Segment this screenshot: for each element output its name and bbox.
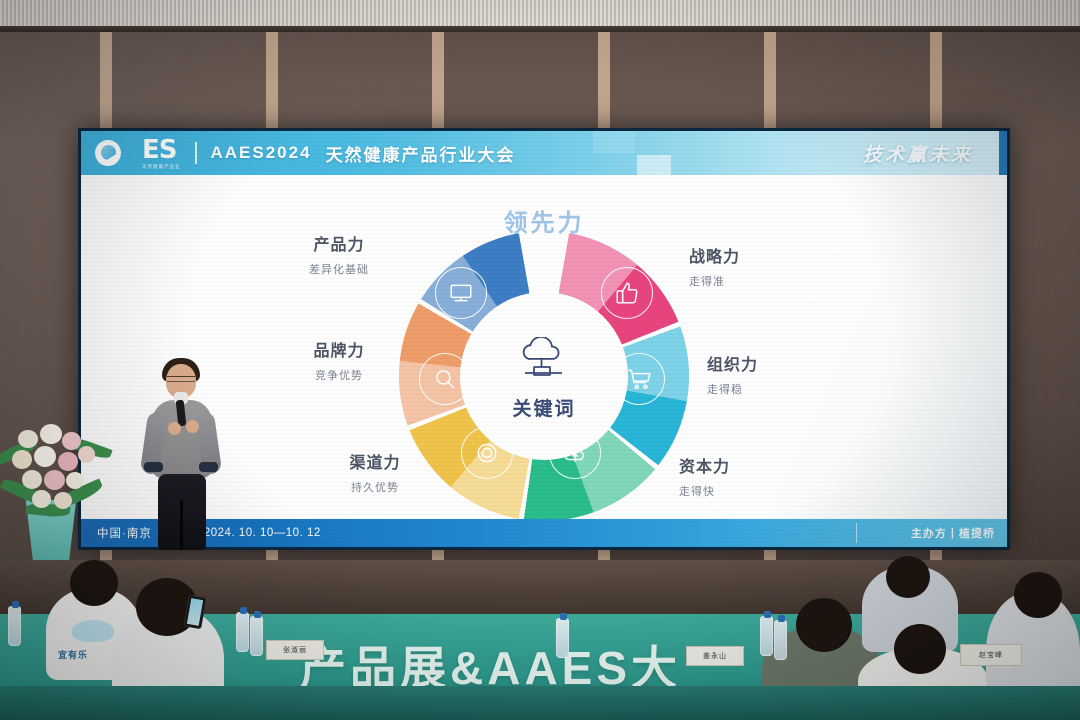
thumbs-up-icon	[601, 267, 653, 319]
label-org: 组织力 走得稳	[707, 351, 827, 397]
audience-head-6	[1014, 572, 1062, 618]
vest-logo-text: 宜有乐	[58, 648, 88, 661]
logo-subtext: 天然健康产品业	[142, 164, 181, 170]
audience-head-3	[796, 598, 852, 652]
organizer-sep: |	[951, 527, 955, 539]
label-product-sub: 差异化基础	[279, 261, 399, 277]
presenter-left-cuff	[144, 462, 163, 472]
event-code: AAES2024	[211, 143, 312, 163]
label-product: 产品力 差异化基础	[279, 231, 399, 277]
label-strategy-title: 战略力	[689, 243, 809, 267]
name-card-2: 姜永山	[686, 646, 744, 666]
cloud-network-icon	[464, 337, 624, 390]
water-bottle-5	[8, 606, 21, 646]
donut-diagram: 关键词	[399, 231, 689, 491]
presenter-right-hand	[186, 420, 199, 433]
header-slogan: 技术赢未来	[863, 140, 973, 167]
center-label: 关键词	[464, 394, 624, 421]
label-capital-sub: 走得快	[679, 483, 799, 499]
water-bottle-2	[250, 616, 263, 656]
water-bottle-3	[760, 616, 773, 656]
event-logo: ES 天然健康产品业	[81, 137, 181, 170]
header-divider	[195, 142, 197, 164]
header-notch-top	[593, 131, 635, 153]
name-card-3: 赵宝峰	[960, 644, 1022, 666]
slide-header: ES 天然健康产品业 AAES2024 天然健康产品行业大会 技术赢未来	[81, 131, 1007, 175]
presenter	[136, 358, 226, 548]
audience-head-1	[70, 560, 118, 606]
presenter-left-hand	[168, 422, 181, 435]
footer-organizer: 主办方 | 植提桥	[911, 519, 995, 547]
presenter-legs	[158, 474, 206, 550]
flower-arrangement	[0, 412, 116, 522]
audience-head-5	[894, 624, 946, 674]
organizer-label: 主办方	[911, 525, 947, 541]
presenter-glasses	[167, 376, 195, 382]
donut-center: 关键词	[464, 337, 624, 421]
label-org-sub: 走得稳	[707, 381, 827, 397]
label-channel-sub: 持久优势	[315, 479, 435, 495]
label-strategy: 战略力 走得准	[689, 243, 809, 289]
audience-head-4	[886, 556, 930, 598]
rings-icon	[461, 427, 513, 479]
organizer-name: 植提桥	[959, 525, 995, 541]
logo-text: ES	[142, 137, 181, 163]
label-capital: 资本力 走得快	[679, 453, 799, 499]
label-brand-title: 品牌力	[279, 337, 399, 361]
presenter-right-cuff	[199, 462, 218, 472]
conference-photo: ES 天然健康产品业 AAES2024 天然健康产品行业大会 技术赢未来 领先力	[0, 0, 1080, 720]
water-bottle-4	[774, 620, 787, 660]
ceiling	[0, 0, 1080, 28]
label-channel-title: 渠道力	[315, 449, 435, 473]
water-bottle-6	[556, 618, 569, 658]
water-bottle-1	[236, 612, 249, 652]
conference-table	[0, 686, 1080, 720]
label-capital-title: 资本力	[679, 453, 799, 477]
event-name: 天然健康产品行业大会	[326, 141, 516, 166]
header-notch	[637, 155, 671, 175]
name-card-1: 张淑丽	[266, 640, 324, 660]
logo-swoosh-icon	[95, 140, 139, 166]
label-brand-sub: 竞争优势	[279, 367, 399, 383]
label-channel: 渠道力 持久优势	[315, 449, 435, 495]
footer-separator-line	[856, 523, 857, 543]
monitor-icon	[435, 267, 487, 319]
vest-cloud-icon	[72, 620, 114, 642]
label-brand: 品牌力 竞争优势	[279, 337, 399, 383]
label-org-title: 组织力	[707, 351, 827, 375]
label-strategy-sub: 走得准	[689, 273, 809, 289]
cloud-upload-icon	[549, 427, 601, 479]
label-product-title: 产品力	[279, 231, 399, 255]
